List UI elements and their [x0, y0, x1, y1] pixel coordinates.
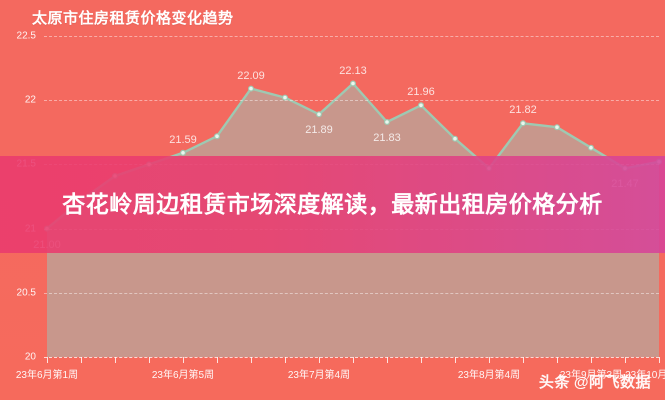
y-axis-tick-label: 20.5 — [0, 287, 36, 298]
x-axis-tick — [353, 357, 354, 363]
data-point-label: 21.82 — [509, 104, 537, 116]
chart-data-point — [317, 112, 322, 117]
gridline — [44, 36, 659, 37]
x-axis-tick — [217, 357, 218, 363]
chart-data-point — [385, 120, 390, 125]
y-axis-tick-label: 22 — [0, 95, 36, 106]
chart-screenshot: 太原市住房租赁价格变化趋势 2020.52121.52222.5 23年6月第1… — [0, 0, 665, 400]
x-axis-tick — [149, 357, 150, 363]
chart-data-point — [521, 121, 526, 126]
x-axis-tick — [557, 357, 558, 363]
x-axis-tick — [319, 357, 320, 363]
chart-data-point — [351, 81, 356, 86]
data-point-label: 22.13 — [339, 65, 367, 77]
gridline — [44, 293, 659, 294]
chart-data-point — [555, 125, 560, 130]
data-point-label: 21.59 — [169, 134, 197, 146]
chart-data-point — [589, 145, 594, 150]
chart-data-point — [249, 86, 254, 91]
x-axis-tick-label: 23年8月第4周 — [458, 366, 520, 381]
x-axis-tick — [183, 357, 184, 363]
x-axis-tick — [421, 357, 422, 363]
x-axis-tick — [489, 357, 490, 363]
x-axis-tick — [115, 357, 116, 363]
x-axis-tick — [455, 357, 456, 363]
x-axis-tick — [251, 357, 252, 363]
data-point-label: 21.89 — [305, 124, 333, 136]
gridline — [44, 100, 659, 101]
x-axis-tick — [625, 357, 626, 363]
x-axis-tick — [285, 357, 286, 363]
watermark-platform: 头条 — [539, 371, 570, 392]
x-axis-tick-label: 23年6月第5周 — [152, 366, 214, 381]
data-point-label: 21.83 — [373, 132, 401, 144]
caption-headline: 杏花岭周边租赁市场深度解读，最新出租房价格分析 — [0, 156, 665, 253]
chart-data-point — [215, 134, 220, 139]
chart-data-point — [453, 136, 458, 141]
x-axis-tick — [81, 357, 82, 363]
data-point-label: 21.96 — [407, 86, 435, 98]
x-axis-tick — [47, 357, 48, 363]
y-axis-tick-label: 20 — [0, 352, 36, 363]
x-axis-tick-label: 23年7月第4周 — [288, 366, 350, 381]
data-point-label: 22.09 — [237, 70, 265, 82]
watermark-handle: @阿飞数据 — [574, 371, 651, 392]
x-axis-tick — [659, 357, 660, 363]
chart-data-point — [181, 150, 186, 155]
x-axis-tick — [387, 357, 388, 363]
x-axis-tick — [591, 357, 592, 363]
x-axis-tick — [523, 357, 524, 363]
watermark: 头条 @阿飞数据 — [539, 371, 651, 392]
chart-data-point — [419, 103, 424, 108]
y-axis-tick-label: 22.5 — [0, 31, 36, 42]
x-axis-tick-label: 23年6月第1周 — [16, 366, 78, 381]
chart-x-axis-line — [44, 357, 659, 358]
